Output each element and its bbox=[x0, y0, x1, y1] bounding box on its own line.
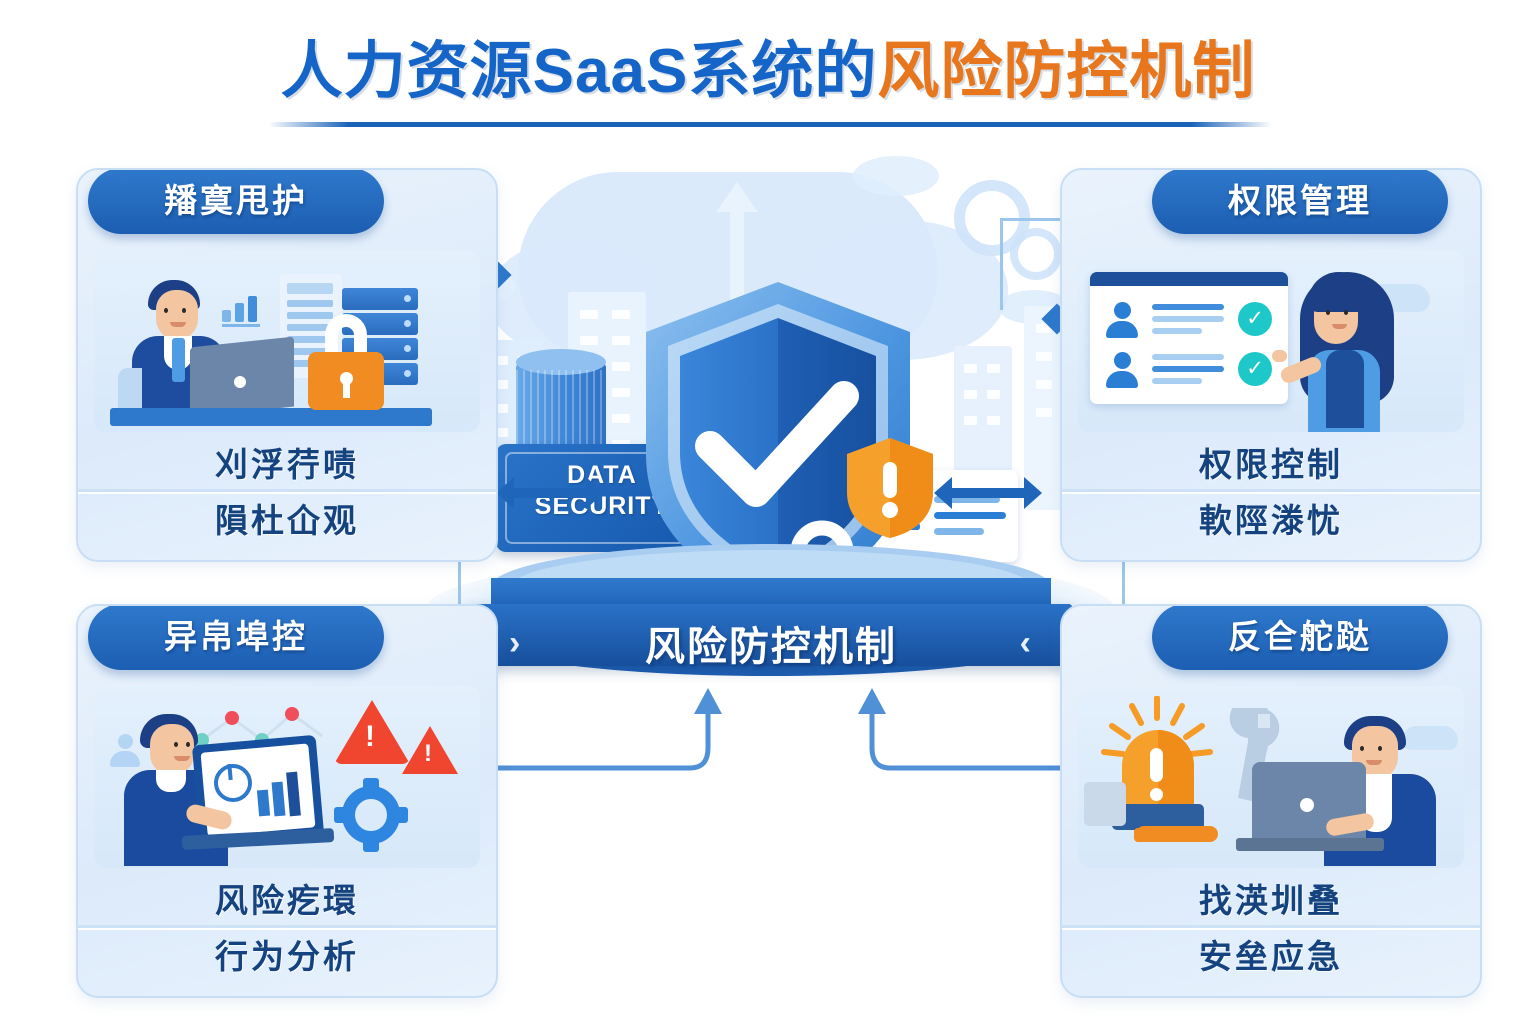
panel-title-pill-data-protection: 羳寞甩护 bbox=[88, 168, 384, 234]
user-list-panel-icon: ✓ ✓ bbox=[1090, 272, 1288, 404]
captions-anomaly-monitoring: 风险疙環 行为分析 bbox=[78, 874, 496, 984]
panel-title-label: 异帛埠控 bbox=[88, 604, 384, 670]
caption-line-1: 风险疙環 bbox=[78, 874, 496, 928]
illustration-emergency-response bbox=[1078, 686, 1464, 868]
check-circle-icon: ✓ bbox=[1238, 352, 1272, 386]
panel-title-label: 羳寞甩护 bbox=[88, 168, 384, 234]
businessman-laptop-icon bbox=[118, 276, 278, 426]
caption-line-2: 隕杜仚观 bbox=[78, 492, 496, 548]
caption-line-2: 行为分析 bbox=[78, 928, 496, 984]
title-underline bbox=[268, 122, 1272, 127]
gear-icon bbox=[1010, 228, 1062, 280]
gear-icon bbox=[334, 778, 408, 852]
caption-line-2: 軟陘漛忧 bbox=[1062, 492, 1480, 548]
caption-line-2: 安垒应急 bbox=[1062, 928, 1480, 984]
panel-permission-management[interactable]: 权限管理 ✓ ✓ bbox=[1060, 168, 1482, 562]
siren-base-mount bbox=[1084, 782, 1126, 826]
panel-title-label: 权限管理 bbox=[1152, 168, 1448, 234]
siren-arm bbox=[1136, 826, 1218, 842]
padlock-icon bbox=[308, 314, 384, 408]
captions-emergency-response: 找渶圳叠 安垒应急 bbox=[1062, 874, 1480, 984]
title-primary: 人力资源SaaS系统的 bbox=[281, 37, 878, 106]
analyst-laptop-icon bbox=[124, 706, 344, 866]
caption-line-1: 权限控制 bbox=[1062, 438, 1480, 492]
panel-emergency-response[interactable]: 反仺舵跶 bbox=[1060, 604, 1482, 998]
check-circle-icon: ✓ bbox=[1238, 302, 1272, 336]
panel-title-pill-permission-management: 权限管理 bbox=[1152, 168, 1448, 234]
illustration-anomaly-monitoring: ! ! bbox=[94, 686, 480, 868]
avatar bbox=[1104, 302, 1140, 338]
caption-line-1: 找渶圳叠 bbox=[1062, 874, 1480, 928]
panel-title-pill-anomaly-monitoring: 异帛埠控 bbox=[88, 604, 384, 670]
panel-title-label: 反仺舵跶 bbox=[1152, 604, 1448, 670]
warning-triangle-icon: ! bbox=[334, 700, 410, 764]
infographic-root: 人力资源SaaS系统的风险防控机制 bbox=[0, 0, 1536, 1024]
captions-data-protection: 刈浮荇啧 隕杜仚观 bbox=[78, 438, 496, 548]
engineer-laptop-icon bbox=[1218, 710, 1458, 866]
title-highlight: 风险防控机制 bbox=[877, 37, 1255, 106]
avatar bbox=[1104, 352, 1140, 388]
illustration-data-protection bbox=[94, 250, 480, 432]
panel-anomaly-monitoring[interactable]: 异帛埠控 ! ! bbox=[76, 604, 498, 998]
desk bbox=[110, 408, 432, 426]
cloud-icon bbox=[853, 156, 939, 196]
warning-triangle-icon: ! bbox=[402, 726, 458, 774]
panel-title-pill-emergency-response: 反仺舵跶 bbox=[1152, 604, 1448, 670]
captions-permission-management: 权限控制 軟陘漛忧 bbox=[1062, 438, 1480, 548]
woman-pointing-icon bbox=[1278, 266, 1418, 432]
page-title: 人力资源SaaS系统的风险防控机制 bbox=[0, 38, 1536, 106]
panel-data-protection[interactable]: 羳寞甩护 bbox=[76, 168, 498, 562]
illustration-permission-management: ✓ ✓ bbox=[1078, 250, 1464, 432]
caption-line-1: 刈浮荇啧 bbox=[78, 438, 496, 492]
